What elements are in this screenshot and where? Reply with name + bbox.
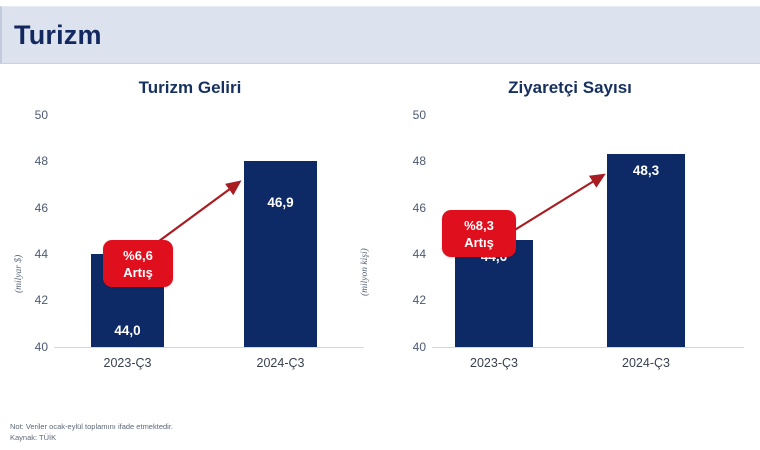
ytick-label: 48 (14, 155, 48, 167)
ytick-label: 40 (14, 341, 48, 353)
x-axis-baseline (432, 347, 744, 348)
growth-badge-percent: %6,6 (123, 247, 153, 264)
page-header-banner: Turizm (0, 6, 760, 64)
page-title: Turizm (14, 22, 102, 49)
ytick-label: 48 (392, 155, 426, 167)
growth-arrow-turizm-geliri (0, 68, 380, 388)
growth-badge-percent: %8,3 (464, 217, 494, 234)
x-axis-baseline (54, 347, 364, 348)
bar-value-2023: 44,0 (91, 323, 164, 338)
ytick-label: 46 (392, 202, 426, 214)
growth-badge-turizm-geliri[interactable]: %6,6 Artış (103, 240, 173, 287)
growth-arrow-ziyaretci-sayisi (380, 68, 760, 388)
xtick-label-2023: 2023-Ç3 (447, 356, 541, 370)
ytick-label: 42 (392, 294, 426, 306)
bar-value-2024: 48,3 (607, 163, 685, 178)
plot-area-ziyaretci-sayisi: 40 42 44 46 48 50 (milyon kişi) 44,6 48,… (380, 68, 760, 388)
growth-badge-ziyaretci-sayisi[interactable]: %8,3 Artış (442, 210, 516, 257)
chart-ziyaretci-sayisi: Ziyaretçi Sayısı 40 42 44 46 48 50 (mily… (380, 68, 760, 388)
xtick-label-2024: 2024-Ç3 (599, 356, 693, 370)
ytick-label: 42 (14, 294, 48, 306)
ytick-label: 46 (14, 202, 48, 214)
ytick-label: 40 (392, 341, 426, 353)
y-axis-label-turizm-geliri: (milyar $) (14, 255, 24, 293)
plot-area-turizm-geliri: 40 42 44 46 48 50 (milyar $) 44,0 46,9 (0, 68, 380, 388)
ytick-label: 50 (14, 109, 48, 121)
footnote-note: Not: Veriler ocak-eylül toplamını ifade … (10, 421, 173, 432)
ytick-label: 44 (392, 248, 426, 260)
ytick-label: 50 (392, 109, 426, 121)
growth-badge-word: Artış (123, 264, 153, 281)
bar-2024[interactable] (244, 161, 317, 347)
footnotes: Not: Veriler ocak-eylül toplamını ifade … (10, 421, 173, 443)
xtick-label-2024: 2024-Ç3 (234, 356, 327, 370)
bar-2024[interactable] (607, 154, 685, 347)
growth-badge-word: Artış (464, 234, 494, 251)
footnote-source: Kaynak: TÜİK (10, 432, 173, 443)
bar-value-2024: 46,9 (244, 195, 317, 210)
charts-container: Turizm Geliri 40 42 44 46 48 50 (milyar … (0, 68, 760, 408)
y-axis-label-ziyaretci-sayisi: (milyon kişi) (360, 248, 370, 296)
xtick-label-2023: 2023-Ç3 (81, 356, 174, 370)
chart-turizm-geliri: Turizm Geliri 40 42 44 46 48 50 (milyar … (0, 68, 380, 388)
